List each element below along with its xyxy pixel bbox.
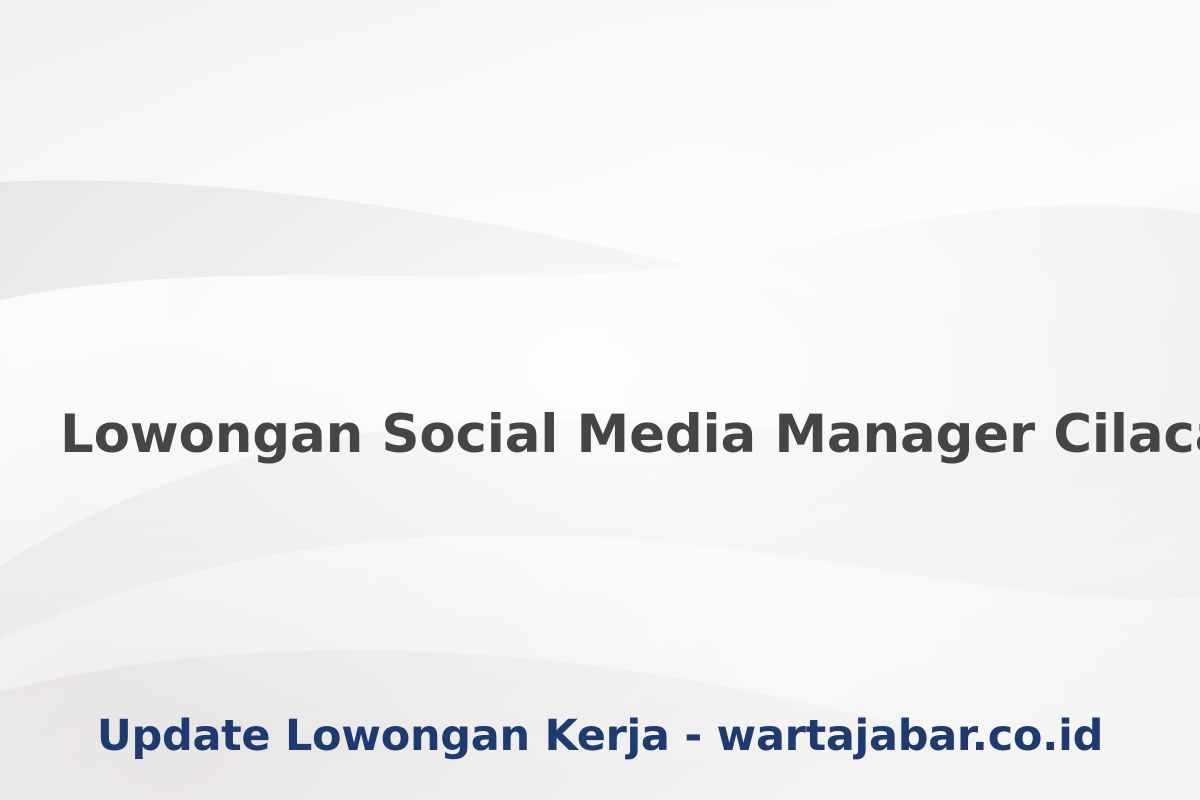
share-card: Lowongan Social Media Manager Cilacap Up… [0,0,1200,800]
page-title: Lowongan Social Media Manager Cilacap [60,404,1140,465]
brand-footer-text: Update Lowongan Kerja - wartajabar.co.id [50,712,1150,760]
card-content: Lowongan Social Media Manager Cilacap Up… [0,0,1200,800]
